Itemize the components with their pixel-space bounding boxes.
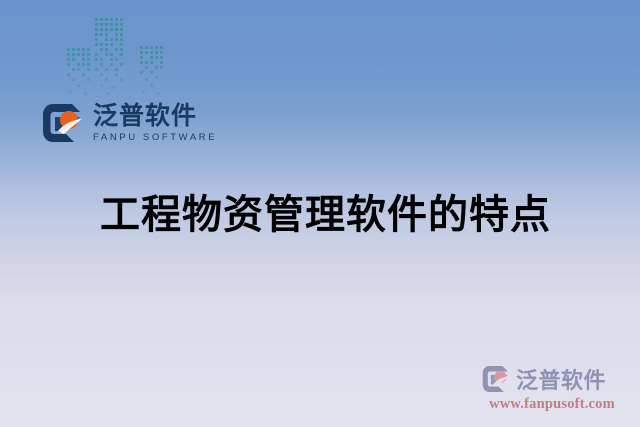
watermark-brand-name: 泛普软件 bbox=[516, 363, 606, 395]
pixel-skyline-icon bbox=[62, 6, 202, 101]
watermark-logo-row: 泛普软件 bbox=[482, 363, 622, 395]
fanpu-watermark-mark-icon bbox=[482, 364, 512, 394]
brand-name: 泛普软件 bbox=[93, 104, 217, 129]
brand-text-block: 泛普软件 FANPU SOFTWARE bbox=[93, 104, 217, 143]
watermark: 泛普软件 www.fanpusoft.com bbox=[482, 363, 622, 413]
slide-canvas: 泛普软件 FANPU SOFTWARE 工程物资管理软件的特点 泛普软件 www… bbox=[0, 0, 640, 427]
fanpu-logo-mark-icon bbox=[42, 101, 86, 145]
page-title: 工程物资管理软件的特点 bbox=[100, 192, 551, 238]
brand-subtitle: FANPU SOFTWARE bbox=[93, 133, 217, 143]
brand-logo: 泛普软件 FANPU SOFTWARE bbox=[42, 101, 217, 145]
watermark-url: www.fanpusoft.com bbox=[482, 396, 622, 413]
